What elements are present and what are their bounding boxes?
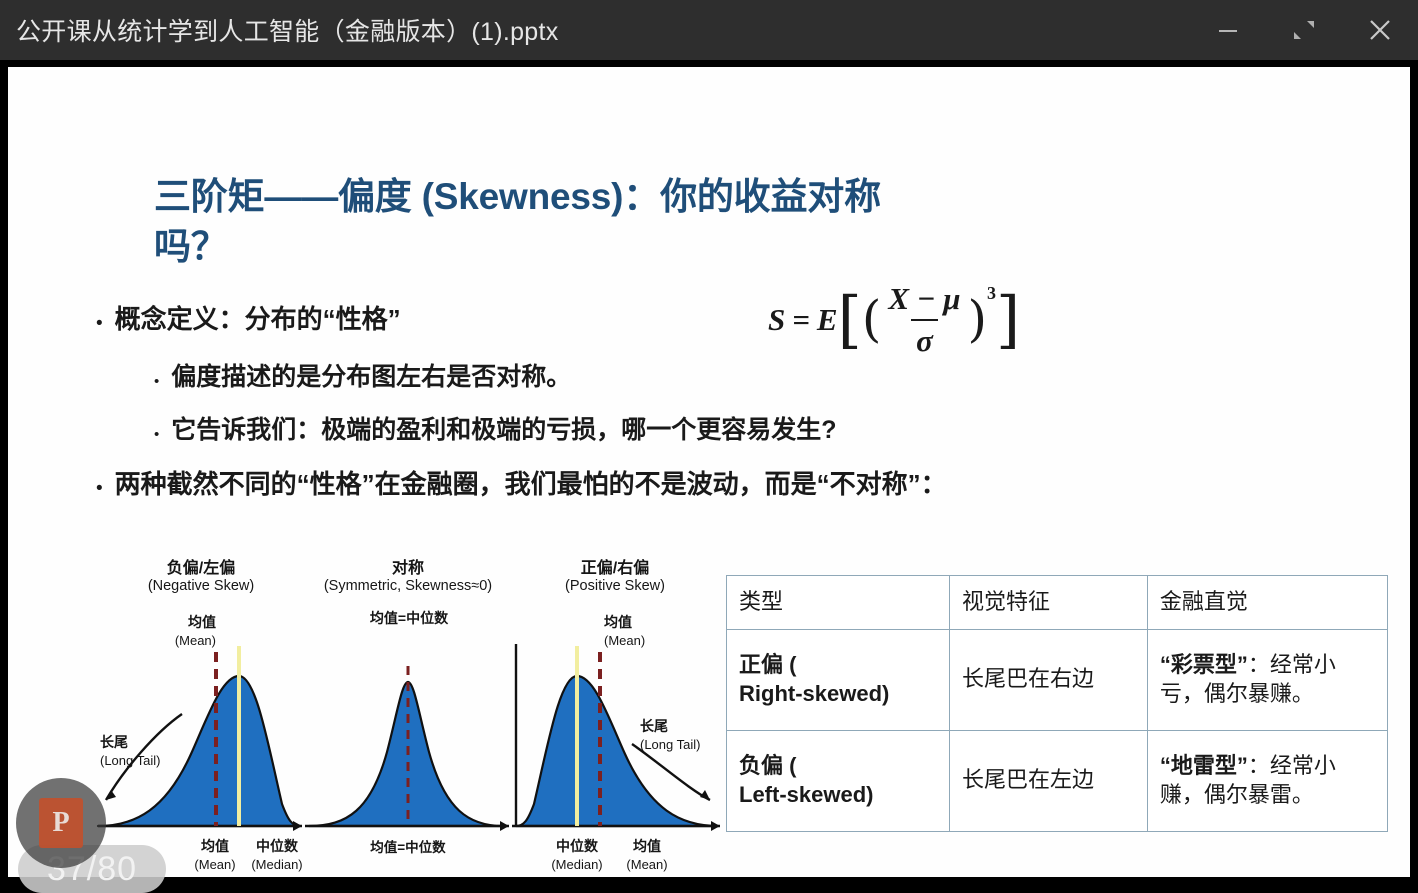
table-header-cell: 视觉特征 bbox=[949, 576, 1147, 630]
center-label: 均值=中位数 bbox=[339, 610, 479, 629]
mean-axis-label-cn: 均值 bbox=[201, 838, 229, 854]
long-tail-label-cn: 长尾 bbox=[640, 718, 668, 734]
type-en: Left-skewed) bbox=[739, 781, 937, 810]
table-cell-intuition: “彩票型”：经常小亏，偶尔暴赚。 bbox=[1147, 629, 1387, 730]
bullet-item: • 两种截然不同的“性格”在金融圈，我们最怕的不是波动，而是“不对称”： bbox=[96, 468, 1096, 501]
chart-heading-en: (Symmetric, Skewness≈0) bbox=[303, 578, 513, 595]
symmetric-curve bbox=[303, 604, 513, 854]
bullet-item: • 偏度描述的是分布图左右是否对称。 bbox=[96, 362, 1096, 393]
chart-footer-text: 均值=中位数 bbox=[370, 840, 445, 855]
minimize-icon bbox=[1215, 17, 1241, 43]
mean-axis-label-en: (Mean) bbox=[616, 857, 678, 872]
close-button[interactable] bbox=[1342, 0, 1418, 60]
table-cell-type: 正偏 ( Right-skewed) bbox=[727, 629, 950, 730]
table-row: 负偏 ( Left-skewed) 长尾巴在左边 “地雷型”：经常小赚，偶尔暴雷… bbox=[727, 730, 1388, 831]
long-tail-label: 长尾 (Long Tail) bbox=[640, 718, 724, 752]
median-axis-label-cn: 中位数 bbox=[256, 838, 298, 854]
mean-label-cn: 均值 bbox=[188, 614, 216, 630]
table-header-cell: 金融直觉 bbox=[1147, 576, 1387, 630]
app-icon-overlay[interactable]: P bbox=[16, 778, 106, 868]
type-en: Right-skewed) bbox=[739, 680, 937, 709]
intuition-highlight: “彩票型” bbox=[1160, 652, 1248, 677]
chart-heading: 负偏/左偏 (Negative Skew) bbox=[96, 560, 306, 596]
long-tail-label-cn: 长尾 bbox=[100, 734, 128, 750]
bullet-text: 两种截然不同的“性格”在金融圈，我们最怕的不是波动，而是“不对称”： bbox=[115, 468, 947, 501]
chart-heading-en: (Negative Skew) bbox=[96, 578, 306, 595]
median-axis-label-cn: 中位数 bbox=[556, 838, 598, 854]
restore-button[interactable] bbox=[1266, 0, 1342, 60]
center-label-text: 均值=中位数 bbox=[370, 610, 448, 626]
window-titlebar: 公开课从统计学到人工智能（金融版本）(1).pptx bbox=[0, 0, 1418, 61]
bullet-marker-icon: • bbox=[96, 314, 103, 333]
long-tail-label-en: (Long Tail) bbox=[640, 737, 724, 752]
chart-heading-cn: 对称 bbox=[303, 560, 513, 578]
chart-heading: 对称 (Symmetric, Skewness≈0) bbox=[303, 560, 513, 596]
bullet-marker-icon: • bbox=[154, 374, 159, 389]
bullet-item: • 它告诉我们：极端的盈利和极端的亏损，哪一个更容易发生? bbox=[96, 415, 1096, 446]
mean-label-en: (Mean) bbox=[604, 633, 684, 648]
type-cn: 负偏 ( bbox=[739, 752, 937, 781]
chart-heading-en: (Positive Skew) bbox=[510, 578, 720, 595]
mean-label-top: 均值 (Mean) bbox=[604, 614, 684, 648]
bullet-marker-icon: • bbox=[96, 479, 103, 498]
mean-label-cn: 均值 bbox=[604, 614, 632, 630]
table-header-cell: 类型 bbox=[727, 576, 950, 630]
close-icon bbox=[1364, 14, 1396, 46]
chart-heading-cn: 正偏/右偏 bbox=[510, 560, 720, 578]
window-controls bbox=[1190, 0, 1418, 60]
bullet-text: 它告诉我们：极端的盈利和极端的亏损，哪一个更容易发生? bbox=[171, 415, 836, 446]
restore-icon bbox=[1291, 17, 1317, 43]
table-header-row: 类型 视觉特征 金融直觉 bbox=[727, 576, 1388, 630]
long-tail-label-en: (Long Tail) bbox=[100, 753, 180, 768]
table-cell-intuition: “地雷型”：经常小赚，偶尔暴雷。 bbox=[1147, 730, 1387, 831]
mean-label-en: (Mean) bbox=[150, 633, 216, 648]
mean-axis-label-en: (Mean) bbox=[184, 857, 246, 872]
formula-exponent: 3 bbox=[987, 283, 996, 304]
bullet-text: 偏度描述的是分布图左右是否对称。 bbox=[171, 362, 571, 393]
median-axis-label: 中位数 (Median) bbox=[540, 838, 614, 872]
chart-symmetric: 对称 (Symmetric, Skewness≈0) 均值=中位数 均值=中位数 bbox=[303, 560, 513, 877]
table-cell-visual: 长尾巴在右边 bbox=[949, 629, 1147, 730]
slide-canvas[interactable]: 三阶矩——偏度 (Skewness)：你的收益对称吗？ S = E [ ( X … bbox=[8, 67, 1410, 877]
long-tail-label: 长尾 (Long Tail) bbox=[100, 734, 180, 768]
table-cell-visual: 长尾巴在左边 bbox=[949, 730, 1147, 831]
mean-axis-label: 均值 (Mean) bbox=[616, 838, 678, 872]
bullet-item: • 概念定义：分布的“性格” bbox=[96, 303, 1096, 336]
minimize-button[interactable] bbox=[1190, 0, 1266, 60]
bullet-marker-icon: • bbox=[154, 427, 159, 442]
chart-heading: 正偏/右偏 (Positive Skew) bbox=[510, 560, 720, 596]
chart-negative-skew: 负偏/左偏 (Negative Skew) 均值 (Mean) 长尾 (Long… bbox=[96, 560, 306, 877]
intuition-highlight: “地雷型” bbox=[1160, 753, 1248, 778]
app-icon-letter: P bbox=[52, 807, 69, 839]
bullet-list: • 概念定义：分布的“性格” • 偏度描述的是分布图左右是否对称。 • 它告诉我… bbox=[96, 303, 1096, 527]
mean-axis-label-cn: 均值 bbox=[633, 838, 661, 854]
skew-comparison-table: 类型 视觉特征 金融直觉 正偏 ( Right-skewed) 长尾巴在右边 “… bbox=[726, 575, 1388, 832]
skew-diagram-group: 负偏/左偏 (Negative Skew) 均值 (Mean) 长尾 (Long… bbox=[96, 560, 726, 877]
type-cn: 正偏 ( bbox=[739, 651, 937, 680]
mean-axis-label: 均值 (Mean) bbox=[184, 838, 246, 872]
window-title: 公开课从统计学到人工智能（金融版本）(1).pptx bbox=[16, 12, 559, 48]
mean-label-top: 均值 (Mean) bbox=[150, 614, 216, 648]
median-axis-label-en: (Median) bbox=[540, 857, 614, 872]
powerpoint-icon: P bbox=[39, 798, 83, 848]
chart-footer: 均值=中位数 bbox=[303, 840, 513, 856]
table-row: 正偏 ( Right-skewed) 长尾巴在右边 “彩票型”：经常小亏，偶尔暴… bbox=[727, 629, 1388, 730]
table-cell-type: 负偏 ( Left-skewed) bbox=[727, 730, 950, 831]
slide-title: 三阶矩——偏度 (Skewness)：你的收益对称吗？ bbox=[154, 172, 944, 271]
chart-heading-cn: 负偏/左偏 bbox=[96, 560, 306, 578]
bullet-text: 概念定义：分布的“性格” bbox=[115, 303, 401, 336]
chart-positive-skew: 正偏/右偏 (Positive Skew) 均值 (Mean) 长尾 (Long… bbox=[510, 560, 720, 877]
